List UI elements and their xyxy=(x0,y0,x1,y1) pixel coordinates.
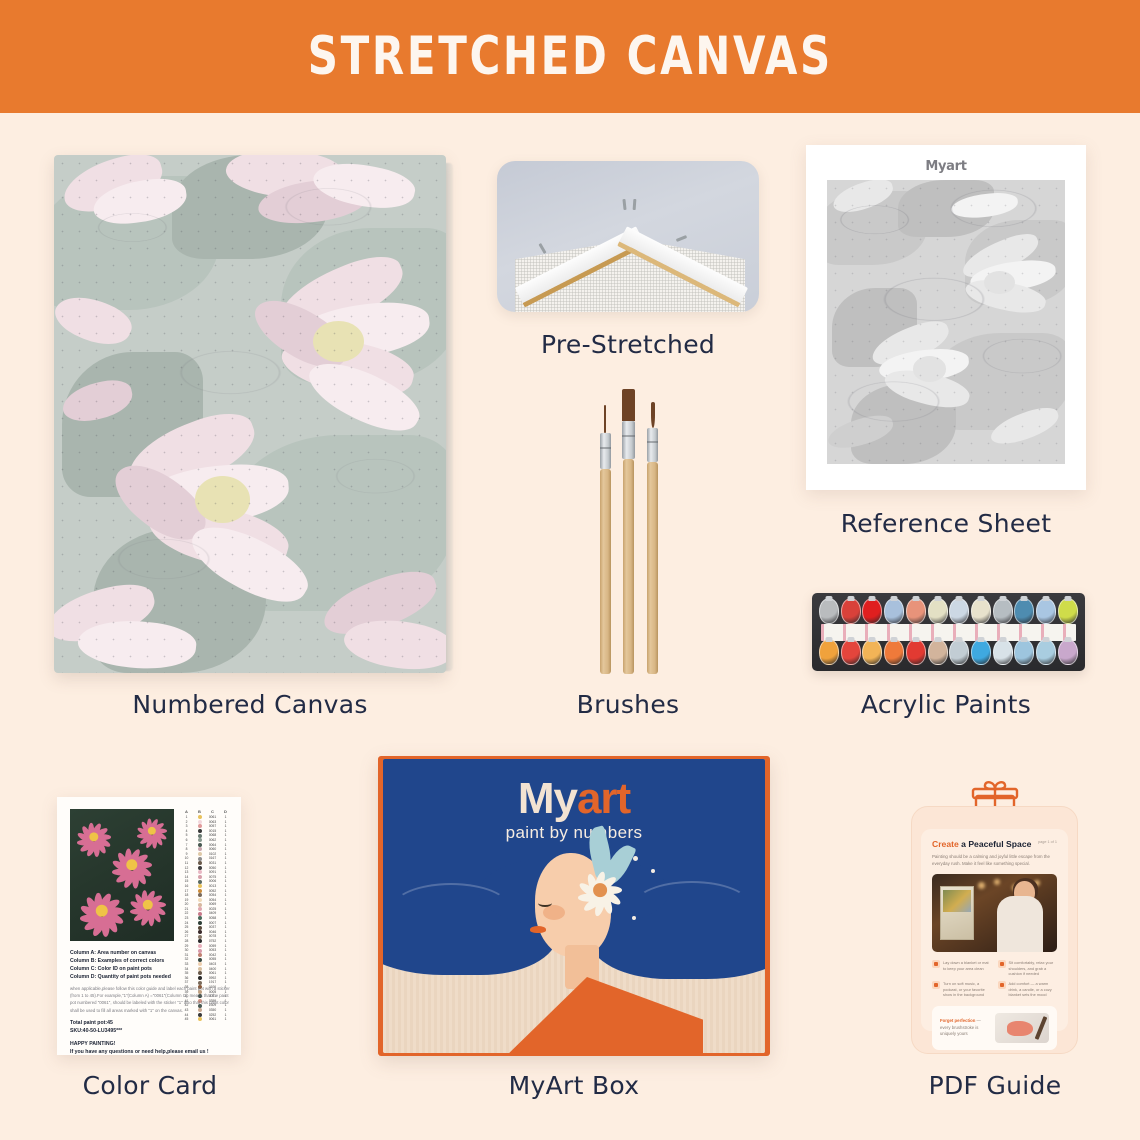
easel-canvas xyxy=(940,886,974,940)
flower-graphic xyxy=(78,887,126,935)
tip-text: Lay down a blanket or mat to keep your a… xyxy=(943,960,992,971)
pdf-note-highlight: Forget perfection xyxy=(940,1018,975,1023)
pdf-tip-item: Add comfort — a warm drink, a candle, or… xyxy=(998,981,1058,998)
pdf-page-number: page 1 of 1 xyxy=(1038,840,1057,844)
color-card-legend-c: Column C: Color ID on paint pots xyxy=(70,965,230,973)
paint-pot xyxy=(949,639,969,665)
paint-pot xyxy=(1058,598,1078,624)
canvas-number-dots xyxy=(54,155,446,673)
tip-icon xyxy=(932,981,940,989)
pdf-title-accent: Create xyxy=(932,839,959,849)
color-card-table-header: AB CD xyxy=(180,809,232,814)
flower-graphic xyxy=(128,885,168,925)
color-card-legend-d: Column D: Quantity of paint pots needed xyxy=(70,973,230,981)
color-card-happy: HAPPY PAINTING! xyxy=(70,1040,230,1048)
reference-sheet-logo: Myart xyxy=(806,159,1086,174)
pdf-tip-item: Lay down a blanket or mat to keep your a… xyxy=(932,960,992,977)
tip-text: Add comfort — a warm drink, a candle, or… xyxy=(1009,981,1058,998)
logo-my: My xyxy=(518,774,577,823)
pdf-guide-card: page 1 of 1 Create a Peaceful Space Pain… xyxy=(911,806,1078,1054)
page-title: STRETCHED CANVAS xyxy=(307,26,832,87)
paint-pot xyxy=(993,639,1013,665)
paint-pot xyxy=(1036,598,1056,624)
box-branding: Myart paint by numbers xyxy=(383,776,765,843)
infographic-page: STRETCHED CANVAS xyxy=(0,0,1140,1140)
cheek xyxy=(543,905,565,920)
pdf-guide-note: Forget perfection — every brushstroke is… xyxy=(932,1006,1057,1050)
numbered-canvas-image xyxy=(54,155,446,673)
sparkle-dot xyxy=(651,869,655,873)
myart-logo: Myart xyxy=(383,776,765,822)
color-card-sku: SKU:40-50-LU3495*** xyxy=(70,1027,230,1035)
painter-body xyxy=(997,896,1043,952)
pdf-guide-photo xyxy=(932,874,1057,952)
pdf-note-text: Forget perfection — every brushstroke is… xyxy=(940,1018,988,1037)
reference-sheet-image: Myart xyxy=(806,145,1086,490)
caption-pre-stretched: Pre-Stretched xyxy=(497,330,759,359)
color-card-note: when applicable,please follow this color… xyxy=(70,985,230,1014)
paint-pot xyxy=(841,639,861,665)
tip-icon xyxy=(998,960,1006,968)
lips xyxy=(530,926,546,933)
paint-pot xyxy=(993,598,1013,624)
paint-pot xyxy=(1014,598,1034,624)
staple-icon xyxy=(622,199,626,210)
paint-pot-row-bottom xyxy=(819,639,1078,666)
brushes-image xyxy=(583,389,675,674)
paint-pot xyxy=(928,639,948,665)
pdf-tip-item: Sit comfortably, relax your shoulders, a… xyxy=(998,960,1058,977)
color-card-legend-b: Column B: Examples of correct colors xyxy=(70,957,230,965)
sparkle-dot xyxy=(633,856,638,861)
pdf-guide-tips: Lay down a blanket or mat to keep your a… xyxy=(932,960,1057,998)
header-banner: STRETCHED CANVAS xyxy=(0,0,1140,113)
pdf-tip-item: Turn on soft music, a podcast, or your f… xyxy=(932,981,992,998)
paint-pot-row-top xyxy=(819,598,1078,625)
hair-highlight xyxy=(633,881,751,931)
caption-numbered-canvas: Numbered Canvas xyxy=(54,690,446,719)
pdf-guide-image: page 1 of 1 Create a Peaceful Space Pain… xyxy=(902,778,1087,1058)
paint-pot xyxy=(884,639,904,665)
paint-pot xyxy=(862,639,882,665)
paint-pot xyxy=(1036,639,1056,665)
paint-pot xyxy=(862,598,882,624)
paint-pot xyxy=(841,598,861,624)
paint-pot xyxy=(906,639,926,665)
paint-pot xyxy=(928,598,948,624)
paint-pot xyxy=(1014,639,1034,665)
box-face: Myart paint by numbers xyxy=(383,759,765,1053)
pdf-guide-page: page 1 of 1 Create a Peaceful Space Pain… xyxy=(921,829,1068,1031)
caption-color-card: Color Card xyxy=(45,1071,255,1100)
myart-box-image: Myart paint by numbers xyxy=(378,756,770,1056)
hair-highlight xyxy=(391,883,511,935)
paint-pot xyxy=(971,598,991,624)
brush-round xyxy=(647,402,658,674)
paint-pot xyxy=(949,598,969,624)
box-tagline: paint by numbers xyxy=(383,823,765,843)
staple-icon xyxy=(538,243,546,254)
staple-icon xyxy=(676,235,687,242)
pdf-note-image xyxy=(995,1013,1049,1043)
caption-acrylic-paints: Acrylic Paints xyxy=(806,690,1086,719)
caption-pdf-guide: PDF Guide xyxy=(885,1071,1105,1100)
tip-text: Sit comfortably, relax your shoulders, a… xyxy=(1009,960,1058,977)
color-card-photo xyxy=(70,809,174,941)
caption-myart-box: MyArt Box xyxy=(378,1071,770,1100)
color-card-legend-a: Column A: Area number on canvas xyxy=(70,949,230,957)
paint-pot xyxy=(819,598,839,624)
paint-pot xyxy=(906,598,926,624)
paint-pot xyxy=(884,598,904,624)
flower-graphic xyxy=(110,843,154,887)
caption-brushes: Brushes xyxy=(497,690,759,719)
daisy-icon xyxy=(577,867,623,913)
pdf-guide-subtitle: Painting should be a calming and joyful … xyxy=(932,854,1057,867)
color-card-total: Total paint pot:45 xyxy=(70,1019,230,1027)
staple-icon xyxy=(633,199,637,210)
paint-pot xyxy=(971,639,991,665)
canvas-face xyxy=(54,155,446,673)
tip-icon xyxy=(932,960,940,968)
paint-pot xyxy=(819,639,839,665)
color-card-image: AB CD 1006112006313005714001515006816006… xyxy=(57,797,241,1055)
tip-text: Turn on soft music, a podcast, or your f… xyxy=(943,981,992,998)
caption-reference-sheet: Reference Sheet xyxy=(806,509,1086,538)
reference-sheet-artwork xyxy=(827,180,1065,464)
eye-closed xyxy=(538,899,552,907)
flower-graphic xyxy=(136,815,168,847)
brush-flat xyxy=(623,389,634,674)
color-card-text: Column A: Area number on canvas Column B… xyxy=(70,949,230,1056)
tip-icon xyxy=(998,981,1006,989)
pdf-title-rest: a Peaceful Space xyxy=(959,839,1032,849)
sparkle-dot xyxy=(632,916,636,920)
logo-art: art xyxy=(577,774,630,823)
brush-detail xyxy=(600,419,611,674)
color-card-contact: If you have any questions or need help,p… xyxy=(70,1048,230,1056)
paint-pot xyxy=(1058,639,1078,665)
flower-graphic xyxy=(76,819,112,855)
pre-stretched-image xyxy=(497,161,759,312)
acrylic-paints-image xyxy=(812,593,1085,671)
